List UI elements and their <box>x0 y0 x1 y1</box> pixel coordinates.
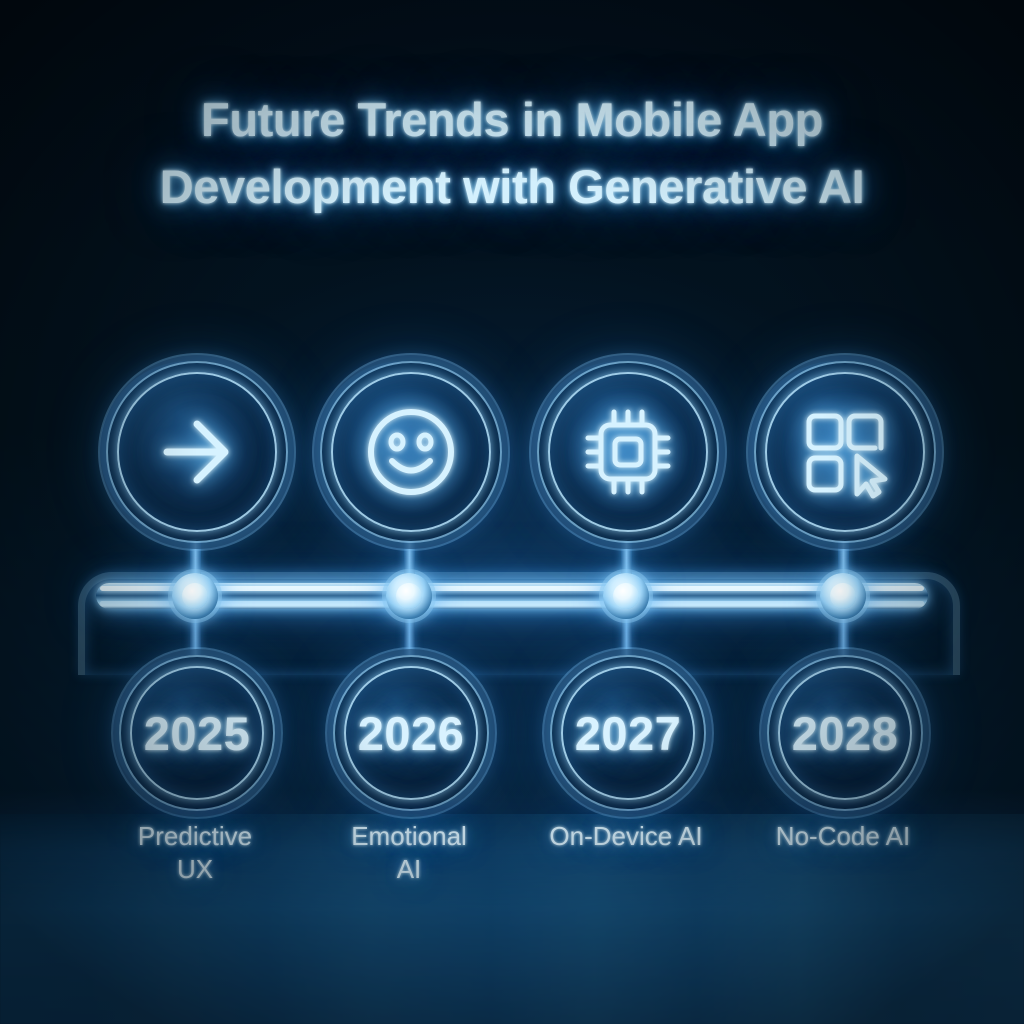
year-value-2: 2026 <box>335 657 487 809</box>
icon-disc-3[interactable] <box>537 361 719 543</box>
timeline-node-2[interactable] <box>386 573 432 619</box>
year-value-4: 2028 <box>769 657 921 809</box>
milestone-label-3: On-Device AI <box>526 820 726 853</box>
drag-drop-blocks-icon <box>756 363 934 541</box>
year-disc-3[interactable]: 2027 <box>550 655 706 811</box>
timeline-node-core-3 <box>613 583 639 609</box>
milestone-label-2: Emotional AI <box>309 820 509 886</box>
infographic-canvas: Future Trends in Mobile App Development … <box>0 0 1024 1024</box>
cpu-chip-icon <box>539 363 717 541</box>
page-title: Future Trends in Mobile App Development … <box>0 86 1024 220</box>
timeline-node-1[interactable] <box>172 573 218 619</box>
timeline-node-4[interactable] <box>820 573 866 619</box>
timeline-node-core-2 <box>396 583 422 609</box>
icon-disc-1[interactable] <box>106 361 288 543</box>
year-disc-1[interactable]: 2025 <box>119 655 275 811</box>
arrow-right-icon <box>108 363 286 541</box>
year-value-1: 2025 <box>121 657 273 809</box>
milestone-label-4: No-Code AI <box>743 820 943 853</box>
timeline-rail-highlight-top <box>100 586 924 591</box>
timeline-node-core-1 <box>182 583 208 609</box>
milestone-label-1: Predictive UX <box>95 820 295 886</box>
timeline-node-core-4 <box>830 583 856 609</box>
year-disc-2[interactable]: 2026 <box>333 655 489 811</box>
smiley-face-icon <box>322 363 500 541</box>
year-value-3: 2027 <box>552 657 704 809</box>
icon-disc-2[interactable] <box>320 361 502 543</box>
icon-disc-4[interactable] <box>754 361 936 543</box>
timeline-rail-highlight-bottom <box>100 601 924 605</box>
timeline-node-3[interactable] <box>603 573 649 619</box>
year-disc-4[interactable]: 2028 <box>767 655 923 811</box>
